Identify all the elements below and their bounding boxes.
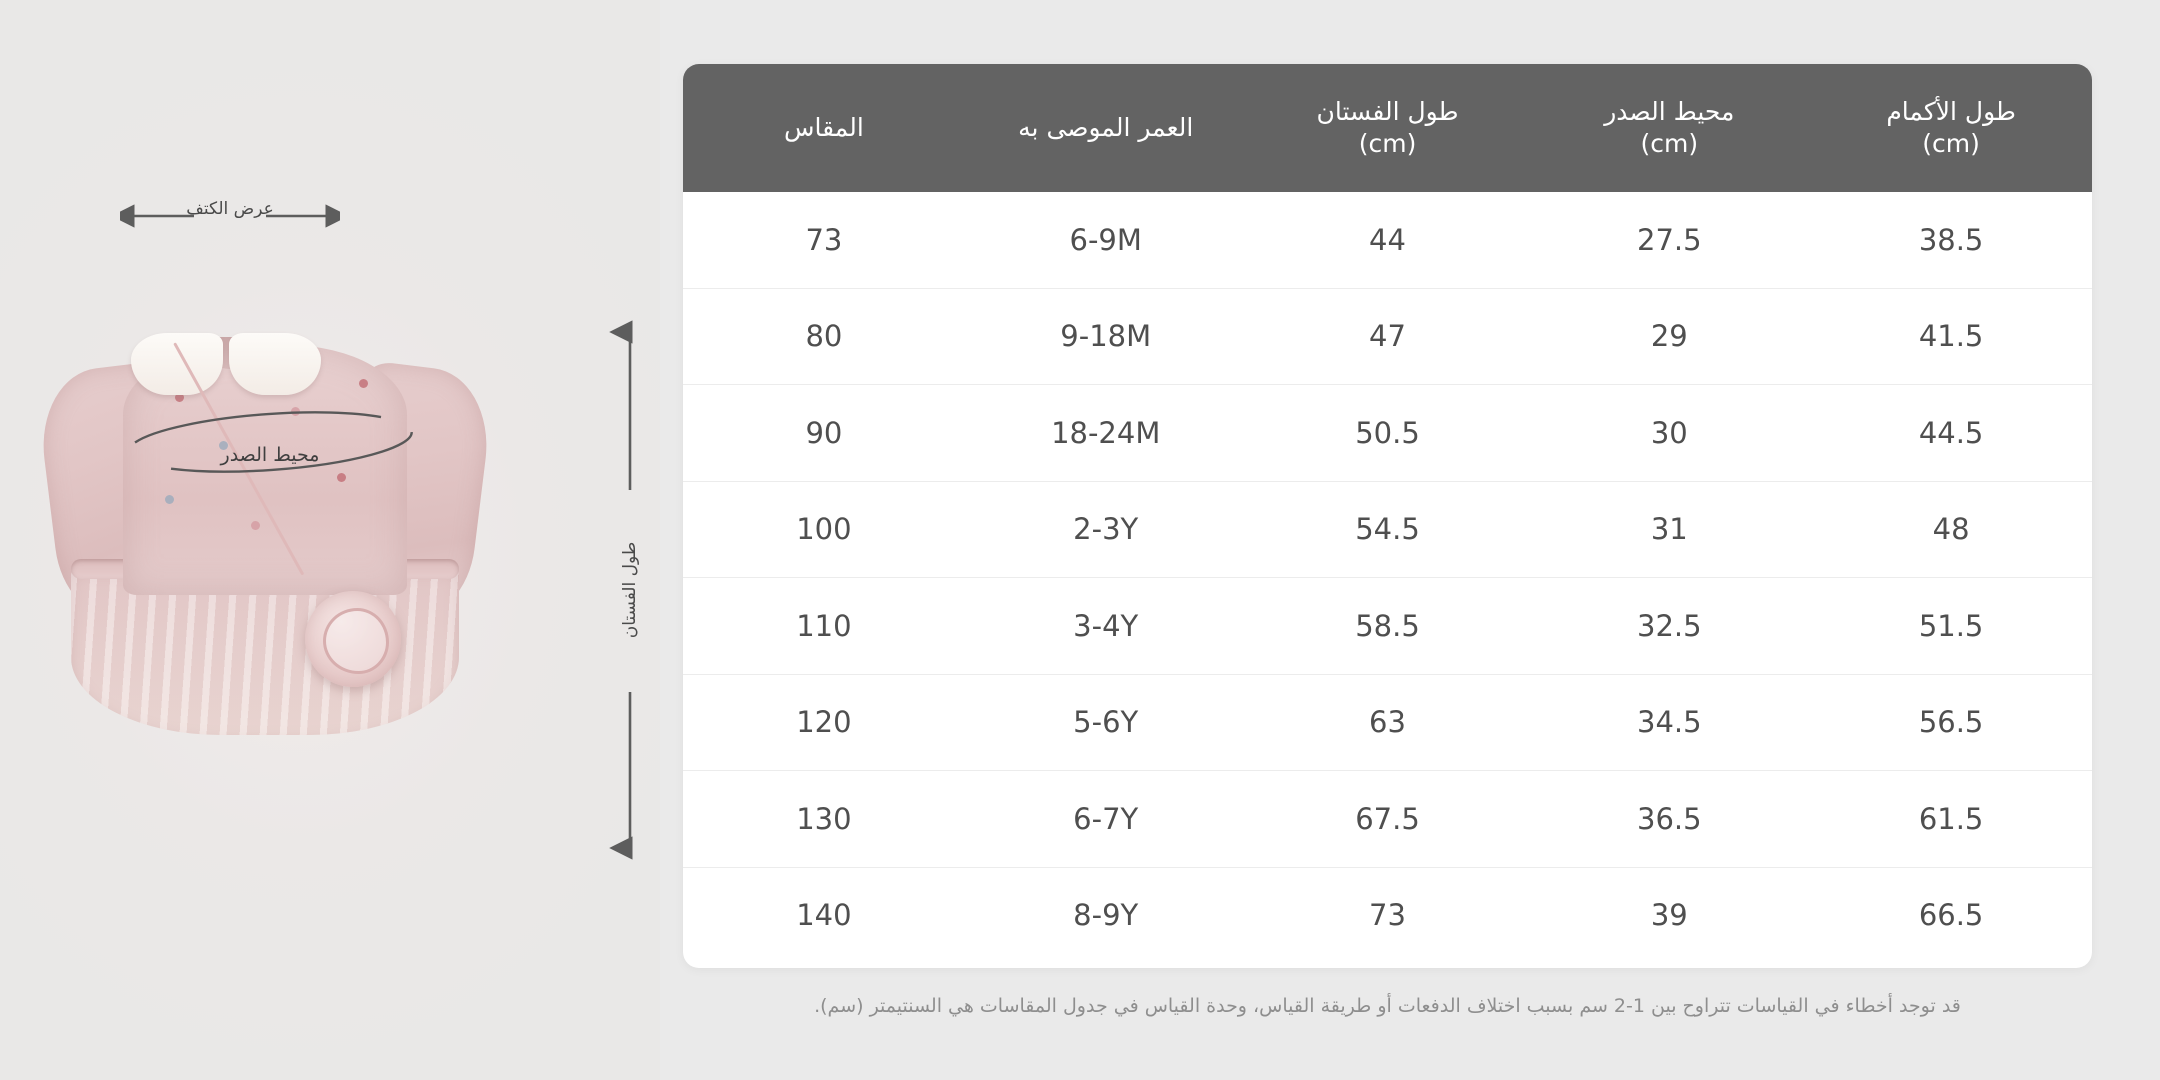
flower-crossbody-bag — [305, 591, 401, 687]
size-table-card: طول الأكمام (cm) محيط الصدر (cm) طول الف… — [683, 64, 2092, 968]
size-table-header: طول الأكمام (cm) محيط الصدر (cm) طول الف… — [683, 64, 2092, 192]
cell-age: 3-4Y — [965, 578, 1247, 675]
cell-size: 120 — [683, 674, 965, 771]
table-row: 38.527.5446-9M73 — [683, 192, 2092, 288]
cell-dress-length: 47 — [1247, 288, 1529, 385]
cell-sleeve-length: 66.5 — [1810, 867, 2092, 963]
column-label: طول الأكمام — [1886, 97, 2016, 126]
column-unit: (cm) — [1255, 128, 1521, 160]
cell-chest: 27.5 — [1528, 192, 1810, 288]
measurement-disclaimer: قد توجد أخطاء في القياسات تتراوح بين 1-2… — [683, 995, 2092, 1017]
bag-flower-icon — [323, 608, 389, 674]
cell-age: 6-9M — [965, 192, 1247, 288]
chest-circumference-callout: محيط الصدر — [120, 400, 420, 496]
cell-chest: 30 — [1528, 385, 1810, 482]
cell-sleeve-length: 56.5 — [1810, 674, 2092, 771]
column-header-chest: محيط الصدر (cm) — [1528, 64, 1810, 192]
table-row: 483154.52-3Y100 — [683, 481, 2092, 578]
cell-sleeve-length: 38.5 — [1810, 192, 2092, 288]
column-label: العمر الموصى به — [1018, 113, 1193, 142]
column-label: المقاس — [784, 113, 864, 142]
cell-age: 2-3Y — [965, 481, 1247, 578]
column-header-dress-length: طول الفستان (cm) — [1247, 64, 1529, 192]
shoulder-width-callout: عرض الكتف — [120, 198, 340, 234]
dress-collar-left — [131, 333, 223, 395]
table-row: 51.532.558.53-4Y110 — [683, 578, 2092, 675]
chest-circumference-label: محيط الصدر — [120, 444, 420, 466]
column-unit: (cm) — [1536, 128, 1802, 160]
cell-age: 18-24M — [965, 385, 1247, 482]
column-label: طول الفستان — [1317, 97, 1459, 126]
size-chart-page: عرض الكتف محيط الصدر — [0, 0, 2160, 1080]
cell-sleeve-length: 51.5 — [1810, 578, 2092, 675]
cell-size: 73 — [683, 192, 965, 288]
cell-size: 100 — [683, 481, 965, 578]
column-header-size: المقاس — [683, 64, 965, 192]
product-photo-panel: عرض الكتف محيط الصدر — [0, 0, 660, 1080]
column-header-sleeve-length: طول الأكمام (cm) — [1810, 64, 2092, 192]
cell-chest: 34.5 — [1528, 674, 1810, 771]
cell-size: 80 — [683, 288, 965, 385]
shoulder-width-label: عرض الكتف — [120, 199, 340, 219]
size-table: طول الأكمام (cm) محيط الصدر (cm) طول الف… — [683, 64, 2092, 963]
cell-size: 130 — [683, 771, 965, 868]
cell-dress-length: 50.5 — [1247, 385, 1529, 482]
cell-chest: 36.5 — [1528, 771, 1810, 868]
cell-age: 9-18M — [965, 288, 1247, 385]
cell-dress-length: 58.5 — [1247, 578, 1529, 675]
cell-age: 5-6Y — [965, 674, 1247, 771]
dress-length-label: طول الفستان — [620, 542, 640, 639]
embroidered-flower-icon — [251, 521, 260, 530]
cell-size: 90 — [683, 385, 965, 482]
column-header-recommended-age: العمر الموصى به — [965, 64, 1247, 192]
table-row: 44.53050.518-24M90 — [683, 385, 2092, 482]
table-row: 41.529479-18M80 — [683, 288, 2092, 385]
cell-age: 8-9Y — [965, 867, 1247, 963]
cell-dress-length: 73 — [1247, 867, 1529, 963]
cell-sleeve-length: 61.5 — [1810, 771, 2092, 868]
cell-dress-length: 44 — [1247, 192, 1529, 288]
cell-sleeve-length: 44.5 — [1810, 385, 2092, 482]
header-row: طول الأكمام (cm) محيط الصدر (cm) طول الف… — [683, 64, 2092, 192]
cell-sleeve-length: 48 — [1810, 481, 2092, 578]
dress-collar-right — [229, 333, 321, 395]
table-row: 56.534.5635-6Y120 — [683, 674, 2092, 771]
cell-chest: 39 — [1528, 867, 1810, 963]
cell-size: 110 — [683, 578, 965, 675]
embroidered-flower-icon — [165, 495, 174, 504]
cell-dress-length: 63 — [1247, 674, 1529, 771]
table-row: 61.536.567.56-7Y130 — [683, 771, 2092, 868]
table-row: 66.539738-9Y140 — [683, 867, 2092, 963]
column-unit: (cm) — [1818, 128, 2084, 160]
dress-image — [55, 315, 475, 735]
cell-chest: 31 — [1528, 481, 1810, 578]
size-table-body: 38.527.5446-9M7341.529479-18M8044.53050.… — [683, 192, 2092, 963]
embroidered-flower-icon — [359, 379, 368, 388]
cell-size: 140 — [683, 867, 965, 963]
cell-sleeve-length: 41.5 — [1810, 288, 2092, 385]
cell-dress-length: 54.5 — [1247, 481, 1529, 578]
cell-chest: 29 — [1528, 288, 1810, 385]
cell-age: 6-7Y — [965, 771, 1247, 868]
column-label: محيط الصدر — [1604, 97, 1734, 126]
cell-chest: 32.5 — [1528, 578, 1810, 675]
dress-length-callout: طول الفستان — [600, 320, 660, 860]
cell-dress-length: 67.5 — [1247, 771, 1529, 868]
